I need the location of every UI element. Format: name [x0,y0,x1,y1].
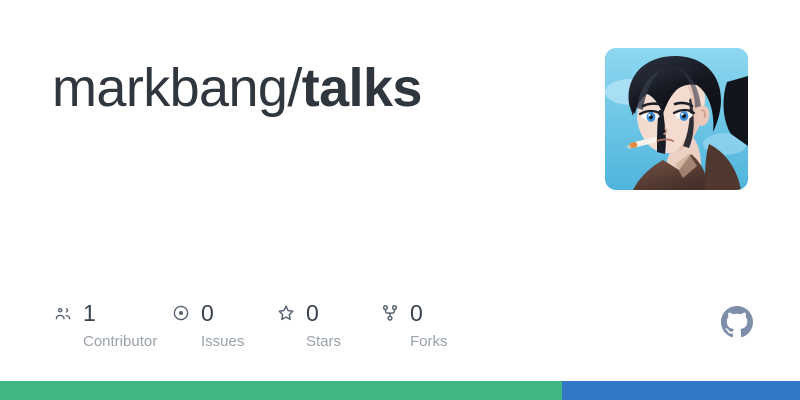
stat-contributors-top: 1 [52,300,96,326]
repo-stats: 1 Contributor 0 Issues [52,300,479,352]
issue-opened-icon [170,302,192,324]
repo-forked-icon [379,302,401,324]
repository-owner-avatar [605,48,748,190]
page-title: markbang/talks [52,56,422,120]
stat-stars-top: 0 [275,300,319,326]
repo-owner: markbang [52,58,287,118]
language-segment-primary [0,381,562,400]
stat-contributors: 1 Contributor [52,300,170,352]
stat-forks: 0 Forks [379,300,479,352]
stat-stars: 0 Stars [275,300,379,352]
stat-forks-label: Forks [410,332,448,352]
repo-name: talks [302,58,422,118]
stat-stars-value: 0 [306,300,319,326]
language-bar [0,381,800,400]
stat-issues-value: 0 [201,300,214,326]
repo-social-preview-card: markbang/talks [0,0,800,400]
stat-forks-top: 0 [379,300,423,326]
stat-contributors-label: Contributor [83,332,157,352]
stat-issues-label: Issues [201,332,244,352]
repo-separator: / [287,58,301,118]
stat-issues: 0 Issues [170,300,275,352]
stat-stars-label: Stars [306,332,341,352]
language-segment-secondary [562,381,800,400]
people-icon [52,302,74,324]
stat-forks-value: 0 [410,300,423,326]
star-icon [275,302,297,324]
repo-full-name: markbang/talks [52,56,422,120]
github-mark-icon [721,306,753,338]
stat-issues-top: 0 [170,300,214,326]
stat-contributors-value: 1 [83,300,96,326]
